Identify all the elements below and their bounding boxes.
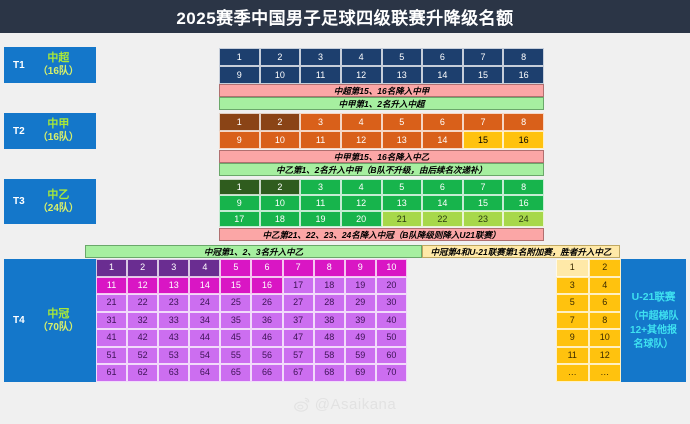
tier3-cell: 5 xyxy=(382,179,423,195)
tier4-cell: 49 xyxy=(345,329,376,347)
tier3-cell: 2 xyxy=(260,179,301,195)
tier-count-t4: （70队） xyxy=(25,321,92,335)
tier4-cell: 54 xyxy=(189,347,220,365)
tier4-cell: 15 xyxy=(220,277,251,295)
u21-subtitle-line2: 12+其他报 xyxy=(630,325,677,336)
u21-subtitle-line3: 名球队） xyxy=(634,339,674,350)
tier1-cell: 9 xyxy=(219,66,260,84)
tier4-cell: 17 xyxy=(283,277,314,295)
tier3-cell: 4 xyxy=(341,179,382,195)
tier2-cell: 9 xyxy=(219,131,260,149)
tier-code-t4: T4 xyxy=(4,315,25,326)
u21-row: …… xyxy=(556,364,621,382)
tier2-cell: 6 xyxy=(422,113,463,131)
tier4-cell: 3 xyxy=(158,259,189,277)
tier4-cell: 37 xyxy=(283,312,314,330)
tier4-cell: 19 xyxy=(345,277,376,295)
tier3-cell: 22 xyxy=(422,211,463,227)
u21-row: 1112 xyxy=(556,347,621,365)
tier-name-t2: 中甲 （16队） xyxy=(25,117,96,145)
tier4-cell: 68 xyxy=(314,364,345,382)
u21-cell: 1 xyxy=(556,259,589,277)
tier-name-t4: 中冠 （70队） xyxy=(25,307,96,335)
tier4-cell: 67 xyxy=(283,364,314,382)
band-cl2-promotion: 中乙第1、2名升入中甲（B队不升级，由后续名次递补） xyxy=(219,163,544,176)
tier1-cell: 16 xyxy=(503,66,544,84)
tier4-cell: 8 xyxy=(314,259,345,277)
tier4-cell: 23 xyxy=(158,294,189,312)
tier2-cell: 15 xyxy=(463,131,504,149)
band-champ-promotion: 中冠第1、2、3名升入中乙 xyxy=(85,245,422,258)
tier1-cell: 4 xyxy=(341,48,382,66)
grid-tier4-china-champions-league: 1234567891011121314151617181920212223242… xyxy=(96,259,407,382)
tier4-cell: 25 xyxy=(220,294,251,312)
tier4-cell: 46 xyxy=(251,329,282,347)
tier1-row: 910111213141516 xyxy=(219,66,544,84)
tier4-cell: 13 xyxy=(158,277,189,295)
band-cl1-promotion: 中甲第1、2名升入中超 xyxy=(219,97,544,110)
tier4-cell: 12 xyxy=(127,277,158,295)
band-cl2-relegation: 中乙第21、22、23、24名降入中冠（B队降级则降入U21联赛） xyxy=(219,228,544,241)
tier-box-t3: T3 中乙 （24队） xyxy=(4,179,96,224)
band-csl-relegation: 中超第15、16名降入中甲 xyxy=(219,84,544,97)
tier4-cell: 48 xyxy=(314,329,345,347)
u21-cell: 8 xyxy=(589,312,622,330)
tier4-cell: 1 xyxy=(96,259,127,277)
tier3-row: 910111213141516 xyxy=(219,195,544,211)
tier4-cell: 55 xyxy=(220,347,251,365)
tier4-cell: 34 xyxy=(189,312,220,330)
tier4-cell: 66 xyxy=(251,364,282,382)
page-title: 2025赛季中国男子足球四级联赛升降级名额 xyxy=(176,4,513,29)
tier-label-t2: 中甲 xyxy=(25,117,92,131)
tier1-cell: 14 xyxy=(422,66,463,84)
tier1-cell: 12 xyxy=(341,66,382,84)
tier2-cell: 4 xyxy=(341,113,382,131)
tier4-cell: 14 xyxy=(189,277,220,295)
u21-row: 56 xyxy=(556,294,621,312)
tier-code-t2: T2 xyxy=(4,126,25,137)
u21-cell: 6 xyxy=(589,294,622,312)
tier1-cell: 5 xyxy=(382,48,423,66)
tier4-row: 21222324252627282930 xyxy=(96,294,407,312)
tier4-cell: 10 xyxy=(376,259,407,277)
tier3-cell: 7 xyxy=(463,179,504,195)
tier4-cell: 58 xyxy=(314,347,345,365)
band-cl1-relegation: 中甲第15、16名降入中乙 xyxy=(219,150,544,163)
tier4-row: 11121314151617181920 xyxy=(96,277,407,295)
tier3-cell: 19 xyxy=(300,211,341,227)
tier4-cell: 33 xyxy=(158,312,189,330)
tier4-cell: 39 xyxy=(345,312,376,330)
grid-tier2-china-league-one: 12345678910111213141516 xyxy=(219,113,544,149)
tier3-cell: 11 xyxy=(300,195,341,211)
tier-box-t1: T1 中超 （16队） xyxy=(4,47,96,83)
tier4-cell: 59 xyxy=(345,347,376,365)
tier2-cell: 1 xyxy=(219,113,260,131)
tier-code-t3: T3 xyxy=(4,196,25,207)
u21-row: 910 xyxy=(556,329,621,347)
tier3-cell: 8 xyxy=(503,179,544,195)
tier4-row: 12345678910 xyxy=(96,259,407,277)
tier4-cell: 4 xyxy=(189,259,220,277)
tier1-row: 12345678 xyxy=(219,48,544,66)
grid-tier1-csl: 12345678910111213141516 xyxy=(219,48,544,84)
tier-box-t4: T4 中冠 （70队） xyxy=(4,259,96,382)
tier4-cell: 70 xyxy=(376,364,407,382)
tier2-cell: 10 xyxy=(260,131,301,149)
grid-u21-league: 123456789101112…… xyxy=(556,259,621,382)
tier4-row: 31323334353637383940 xyxy=(96,312,407,330)
title-bar: 2025赛季中国男子足球四级联赛升降级名额 xyxy=(0,0,690,33)
tier1-cell: 6 xyxy=(422,48,463,66)
tier3-cell: 16 xyxy=(503,195,544,211)
u21-cell: 4 xyxy=(589,277,622,295)
tier-box-t2: T2 中甲 （16队） xyxy=(4,113,96,149)
tier4-cell: 65 xyxy=(220,364,251,382)
tier2-cell: 11 xyxy=(300,131,341,149)
tier3-cell: 20 xyxy=(341,211,382,227)
u21-cell: 9 xyxy=(556,329,589,347)
tier2-cell: 2 xyxy=(260,113,301,131)
tier1-cell: 2 xyxy=(260,48,301,66)
tier4-row: 41424344454647484950 xyxy=(96,329,407,347)
tier3-cell: 3 xyxy=(300,179,341,195)
watermark-handle: @Asaikana xyxy=(315,396,396,413)
tier4-cell: 57 xyxy=(283,347,314,365)
tier4-row: 51525354555657585960 xyxy=(96,347,407,365)
tier4-cell: 26 xyxy=(251,294,282,312)
tier2-cell: 13 xyxy=(382,131,423,149)
tier4-cell: 2 xyxy=(127,259,158,277)
tier2-cell: 5 xyxy=(382,113,423,131)
tier4-cell: 27 xyxy=(283,294,314,312)
tier4-cell: 31 xyxy=(96,312,127,330)
tier4-cell: 36 xyxy=(251,312,282,330)
tier3-cell: 14 xyxy=(422,195,463,211)
u21-row: 12 xyxy=(556,259,621,277)
tier-name-t3: 中乙 （24队） xyxy=(25,188,96,216)
tier1-cell: 7 xyxy=(463,48,504,66)
tier4-cell: 18 xyxy=(314,277,345,295)
u21-cell: 7 xyxy=(556,312,589,330)
tier4-cell: 28 xyxy=(314,294,345,312)
u21-cell: 3 xyxy=(556,277,589,295)
tier3-cell: 23 xyxy=(463,211,504,227)
tier3-cell: 1 xyxy=(219,179,260,195)
tier4-cell: 5 xyxy=(220,259,251,277)
tier4-cell: 11 xyxy=(96,277,127,295)
u21-subtitle: （中超梯队 12+其他报 名球队） xyxy=(629,310,679,352)
tier4-cell: 6 xyxy=(251,259,282,277)
tier4-cell: 47 xyxy=(283,329,314,347)
tier1-cell: 10 xyxy=(260,66,301,84)
u21-cell: … xyxy=(589,364,622,382)
tier4-cell: 16 xyxy=(251,277,282,295)
tier2-cell: 12 xyxy=(341,131,382,149)
tier1-cell: 11 xyxy=(300,66,341,84)
tier4-cell: 53 xyxy=(158,347,189,365)
tier3-row: 1718192021222324 xyxy=(219,211,544,227)
tier2-cell: 14 xyxy=(422,131,463,149)
tier4-cell: 21 xyxy=(96,294,127,312)
tier3-cell: 18 xyxy=(260,211,301,227)
u21-cell: 11 xyxy=(556,347,589,365)
tier1-cell: 1 xyxy=(219,48,260,66)
tier4-cell: 44 xyxy=(189,329,220,347)
tier4-cell: 41 xyxy=(96,329,127,347)
tier4-cell: 45 xyxy=(220,329,251,347)
tier4-cell: 29 xyxy=(345,294,376,312)
tier3-cell: 21 xyxy=(382,211,423,227)
tier1-cell: 8 xyxy=(503,48,544,66)
tier2-cell: 8 xyxy=(503,113,544,131)
tier4-cell: 61 xyxy=(96,364,127,382)
tier3-cell: 6 xyxy=(422,179,463,195)
u21-subtitle-line1: （中超梯队 xyxy=(629,311,679,322)
grid-tier3-china-league-two: 123456789101112131415161718192021222324 xyxy=(219,179,544,227)
tier2-cell: 16 xyxy=(503,131,544,149)
tier4-cell: 24 xyxy=(189,294,220,312)
tier3-cell: 17 xyxy=(219,211,260,227)
tier4-cell: 62 xyxy=(127,364,158,382)
tier3-cell: 10 xyxy=(260,195,301,211)
tier3-cell: 9 xyxy=(219,195,260,211)
tier-count-t2: （16队） xyxy=(25,131,92,145)
tier4-cell: 38 xyxy=(314,312,345,330)
tier-label-t4: 中冠 xyxy=(25,307,92,321)
tier4-cell: 20 xyxy=(376,277,407,295)
tier3-cell: 15 xyxy=(463,195,504,211)
tier2-cell: 3 xyxy=(300,113,341,131)
tier1-cell: 3 xyxy=(300,48,341,66)
u21-cell: … xyxy=(556,364,589,382)
tier4-cell: 63 xyxy=(158,364,189,382)
tier4-cell: 43 xyxy=(158,329,189,347)
tier4-cell: 51 xyxy=(96,347,127,365)
u21-info-box: U-21联赛 （中超梯队 12+其他报 名球队） xyxy=(621,259,686,382)
tier4-cell: 69 xyxy=(345,364,376,382)
tier-count-t3: （24队） xyxy=(25,202,92,216)
watermark: @Asaikana xyxy=(0,396,690,413)
u21-row: 34 xyxy=(556,277,621,295)
tier2-row: 910111213141516 xyxy=(219,131,544,149)
weibo-icon xyxy=(294,396,311,413)
tier4-cell: 30 xyxy=(376,294,407,312)
tier4-cell: 22 xyxy=(127,294,158,312)
u21-cell: 12 xyxy=(589,347,622,365)
tier2-row: 12345678 xyxy=(219,113,544,131)
tier4-cell: 7 xyxy=(283,259,314,277)
tier4-cell: 64 xyxy=(189,364,220,382)
u21-cell: 2 xyxy=(589,259,622,277)
tier4-cell: 60 xyxy=(376,347,407,365)
tier4-cell: 42 xyxy=(127,329,158,347)
tier4-cell: 35 xyxy=(220,312,251,330)
tier4-row: 61626364656667686970 xyxy=(96,364,407,382)
tier4-cell: 9 xyxy=(345,259,376,277)
tier-count-t1: （16队） xyxy=(25,65,92,79)
tier4-cell: 32 xyxy=(127,312,158,330)
tier-code-t1: T1 xyxy=(4,60,25,71)
tier-name-t1: 中超 （16队） xyxy=(25,51,96,79)
u21-row: 78 xyxy=(556,312,621,330)
u21-cell: 10 xyxy=(589,329,622,347)
tier1-cell: 13 xyxy=(382,66,423,84)
u21-title: U-21联赛 xyxy=(632,290,676,305)
tier4-cell: 50 xyxy=(376,329,407,347)
tier-label-t3: 中乙 xyxy=(25,188,92,202)
tier2-cell: 7 xyxy=(463,113,504,131)
tier3-cell: 24 xyxy=(503,211,544,227)
tier3-cell: 12 xyxy=(341,195,382,211)
u21-cell: 5 xyxy=(556,294,589,312)
band-champ-playoff: 中冠第4和U-21联赛第1名附加赛，胜者升入中乙 xyxy=(422,245,620,258)
tier4-cell: 56 xyxy=(251,347,282,365)
tier4-cell: 52 xyxy=(127,347,158,365)
tier3-row: 12345678 xyxy=(219,179,544,195)
tier4-cell: 40 xyxy=(376,312,407,330)
tier3-cell: 13 xyxy=(382,195,423,211)
tier-label-t1: 中超 xyxy=(25,51,92,65)
tier1-cell: 15 xyxy=(463,66,504,84)
